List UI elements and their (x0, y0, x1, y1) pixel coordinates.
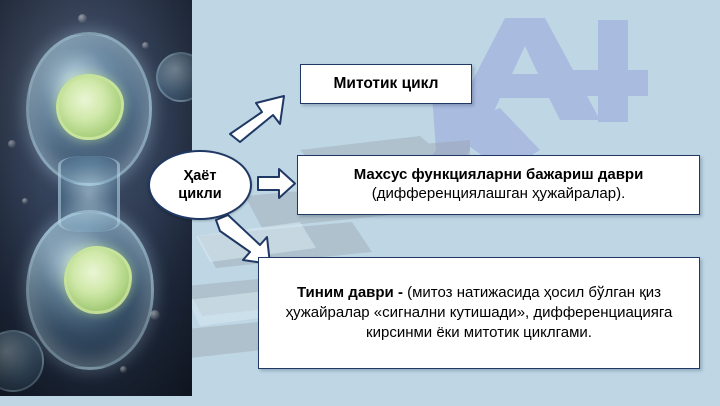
rest-period-bold: Тиним даври - (297, 284, 403, 301)
special-functions-bold: Махсус функцияларни бажариш даври (354, 166, 644, 183)
special-functions-rest: (дифференциялашган ҳужайралар). (372, 185, 625, 202)
textbox-rest-period[interactable]: Тиним даври - (митоз натижасида ҳосил бў… (258, 257, 700, 369)
slide-canvas: Ҳаёт цикли Митотик цикл Махсус функцияла… (0, 0, 720, 406)
textbox-special-functions[interactable]: Махсус функцияларни бажариш даври (диффе… (297, 155, 700, 215)
arrow-right-icon (257, 168, 297, 200)
textbox-mitotic-cycle[interactable]: Митотик цикл (300, 64, 472, 104)
oval-line-1: Ҳаёт (184, 167, 217, 185)
textbox-special-functions-text: Махсус функцияларни бажариш даври (диффе… (298, 164, 699, 206)
arrow-up-right-icon (228, 92, 290, 144)
textbox-rest-period-text: Тиним даври - (митоз натижасида ҳосил бў… (259, 281, 699, 344)
life-cycle-oval-label[interactable]: Ҳаёт цикли (148, 150, 252, 220)
textbox-mitotic-cycle-text: Митотик цикл (301, 73, 471, 95)
oval-line-2: цикли (178, 185, 221, 203)
